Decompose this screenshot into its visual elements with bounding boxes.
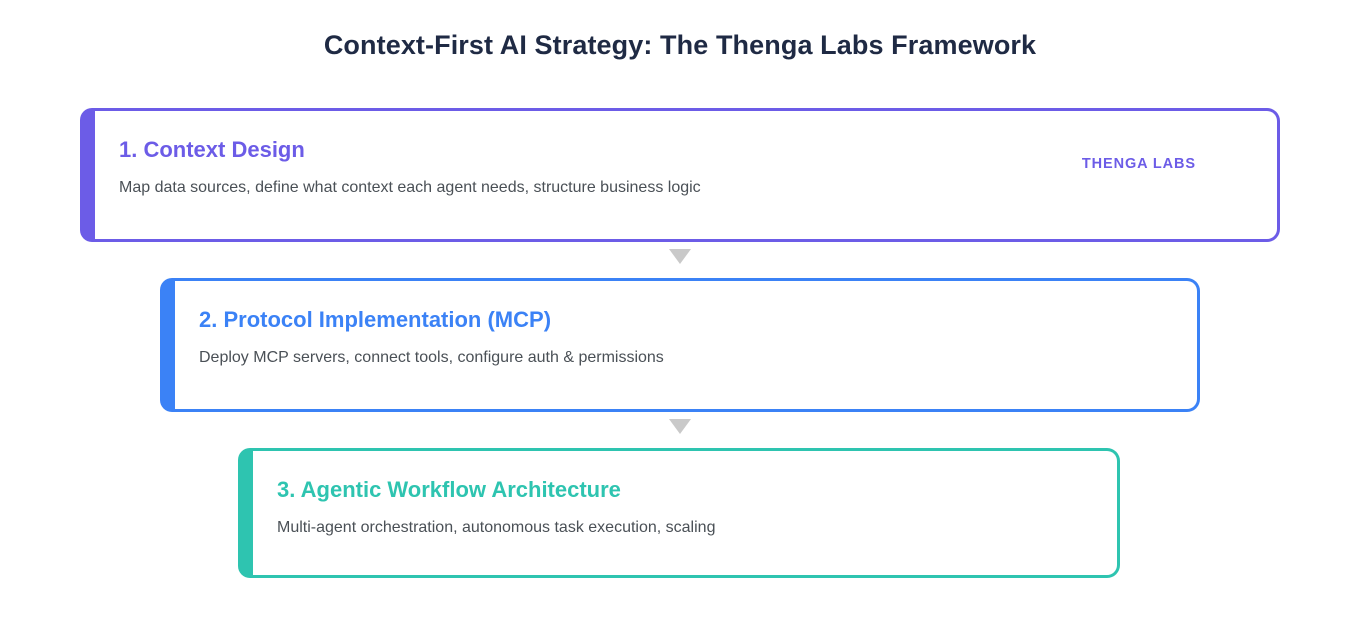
step-2-body: 2. Protocol Implementation (MCP) Deploy … xyxy=(175,278,1200,412)
step-2-accent-bar xyxy=(160,278,175,412)
step-3-accent-bar xyxy=(238,448,253,578)
step-2-heading: 2. Protocol Implementation (MCP) xyxy=(199,307,1173,333)
step-3-body: 3. Agentic Workflow Architecture Multi-a… xyxy=(253,448,1120,578)
arrow-down-triangle-icon-2 xyxy=(669,419,691,434)
step-1-body: 1. Context Design Map data sources, defi… xyxy=(95,108,1280,242)
step-card-3[interactable]: 3. Agentic Workflow Architecture Multi-a… xyxy=(238,448,1120,578)
arrow-down-triangle-icon-1 xyxy=(669,249,691,264)
step-card-1[interactable]: 1. Context Design Map data sources, defi… xyxy=(80,108,1280,242)
step-2-description: Deploy MCP servers, connect tools, confi… xyxy=(199,347,1173,368)
framework-flow-diagram: 1. Context Design Map data sources, defi… xyxy=(0,0,1360,620)
thenga-labs-brand-badge: THENGA LABS xyxy=(1082,156,1196,172)
step-3-description: Multi-agent orchestration, autonomous ta… xyxy=(277,517,1093,538)
step-1-accent-bar xyxy=(80,108,95,242)
step-1-description: Map data sources, define what context ea… xyxy=(119,177,1253,198)
step-3-heading: 3. Agentic Workflow Architecture xyxy=(277,477,1093,503)
step-card-2[interactable]: 2. Protocol Implementation (MCP) Deploy … xyxy=(160,278,1200,412)
